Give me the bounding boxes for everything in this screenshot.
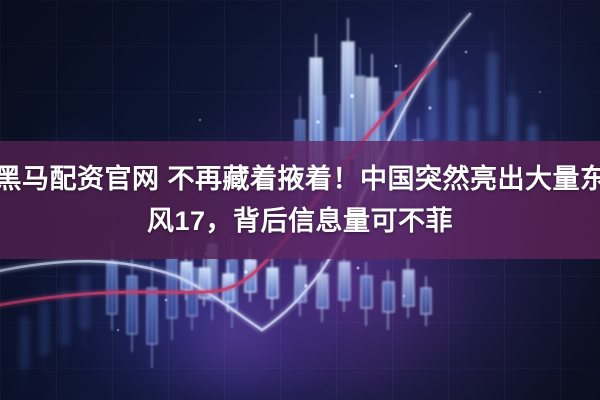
headline-text-block: 黑马配资官网 不再藏着掖着！中国突然亮出大量东 风17，背后信息量可不菲 (0, 141, 600, 259)
headline-line-2: 风17，背后信息量可不菲 (147, 201, 453, 241)
banner-image: 黑马配资官网 不再藏着掖着！中国突然亮出大量东 风17，背后信息量可不菲 (0, 0, 600, 400)
headline-line-1: 黑马配资官网 不再藏着掖着！中国突然亮出大量东 (0, 159, 600, 199)
